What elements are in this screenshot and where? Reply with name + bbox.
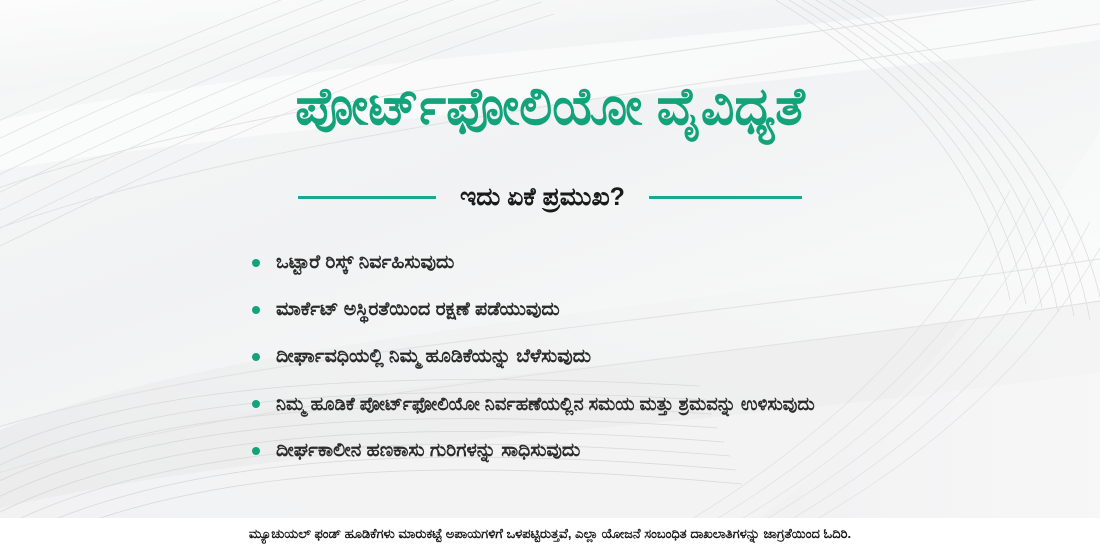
bullet-dot-icon: [252, 447, 260, 455]
slide-subtitle: ಇದು ಏಕೆ ಪ್ರಮುಖ?: [460, 180, 625, 214]
list-item: ಮಾರ್ಕೆಟ್ ಅಸ್ಥಿರತೆಯಿಂದ ರಕ್ಷಣೆ ಪಡೆಯುವುದು: [252, 297, 1072, 344]
list-item: ನಿಮ್ಮ ಹೂಡಿಕೆ ಪೋರ್ಟ್‌ಫೋಲಿಯೋ ನಿರ್ವಹಣೆಯಲ್ಲಿ…: [252, 391, 1072, 438]
subtitle-row: ಇದು ಏಕೆ ಪ್ರಮುಖ?: [0, 180, 1100, 214]
bullet-dot-icon: [252, 400, 260, 408]
bullet-list: ಒಟ್ಟಾರೆ ರಿಸ್ಕ್ ನಿರ್ವಹಿಸುವುದು ಮಾರ್ಕೆಟ್ ಅಸ…: [252, 250, 1072, 485]
list-item-label: ನಿಮ್ಮ ಹೂಡಿಕೆ ಪೋರ್ಟ್‌ಫೋಲಿಯೋ ನಿರ್ವಹಣೆಯಲ್ಲಿ…: [276, 391, 815, 417]
slide-title: ಪೋರ್ಟ್‌ಫೋಲಿಯೋ ವೈವಿಧ್ಯತೆ: [0, 76, 1100, 138]
list-item: ದೀರ್ಘಾವಧಿಯಲ್ಲಿ ನಿಮ್ಮ ಹೂಡಿಕೆಯನ್ನು ಬೆಳೆಸುವ…: [252, 344, 1072, 391]
bullet-dot-icon: [252, 306, 260, 314]
footer-disclaimer: ಮ್ಯೂಚುಯಲ್ ಫಂಡ್ ಹೂಡಿಕೆಗಳು ಮಾರುಕಟ್ಟೆ ಅಪಾಯಗ…: [0, 518, 1100, 550]
divider-line-left: [298, 196, 436, 199]
list-item: ಒಟ್ಟಾರೆ ರಿಸ್ಕ್ ನಿರ್ವಹಿಸುವುದು: [252, 250, 1072, 297]
list-item-label: ಮಾರ್ಕೆಟ್ ಅಸ್ಥಿರತೆಯಿಂದ ರಕ್ಷಣೆ ಪಡೆಯುವುದು: [276, 297, 560, 323]
list-item: ದೀರ್ಘಕಾಲೀನ ಹಣಕಾಸು ಗುರಿಗಳನ್ನು ಸಾಧಿಸುವುದು: [252, 438, 1072, 485]
list-item-label: ಒಟ್ಟಾರೆ ರಿಸ್ಕ್ ನಿರ್ವಹಿಸುವುದು: [276, 250, 454, 276]
bullet-dot-icon: [252, 353, 260, 361]
slide-canvas: ಪೋರ್ಟ್‌ಫೋಲಿಯೋ ವೈವಿಧ್ಯತೆ ಇದು ಏಕೆ ಪ್ರಮುಖ? …: [0, 0, 1100, 550]
divider-line-right: [649, 196, 802, 199]
bullet-dot-icon: [252, 259, 260, 267]
list-item-label: ದೀರ್ಘಕಾಲೀನ ಹಣಕಾಸು ಗುರಿಗಳನ್ನು ಸಾಧಿಸುವುದು: [276, 438, 580, 464]
list-item-label: ದೀರ್ಘಾವಧಿಯಲ್ಲಿ ನಿಮ್ಮ ಹೂಡಿಕೆಯನ್ನು ಬೆಳೆಸುವ…: [276, 344, 591, 370]
slide-content: ಪೋರ್ಟ್‌ಫೋಲಿಯೋ ವೈವಿಧ್ಯತೆ ಇದು ಏಕೆ ಪ್ರಮುಖ? …: [0, 0, 1100, 518]
